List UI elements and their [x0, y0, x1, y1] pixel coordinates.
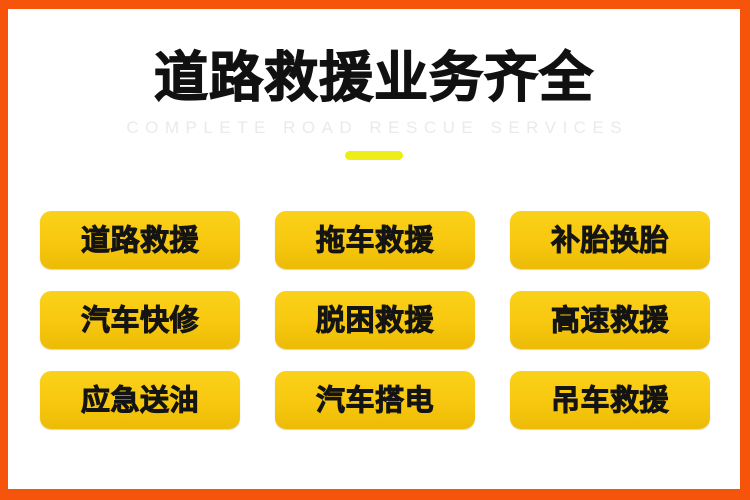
service-chip-label: 汽车搭电 — [316, 386, 434, 415]
service-chip[interactable]: 道路救援 — [40, 211, 240, 269]
accent-bar-wrapper — [8, 151, 740, 160]
service-chip[interactable]: 拖车救援 — [275, 211, 475, 269]
service-chip[interactable]: 汽车快修 — [40, 291, 240, 349]
service-chip[interactable]: 高速救援 — [510, 291, 710, 349]
service-chip-label: 拖车救援 — [316, 226, 434, 255]
service-chip[interactable]: 脱困救援 — [275, 291, 475, 349]
poster-canvas: 道路救援业务齐全 COMPLETE ROAD RESCUE SERVICES 道… — [8, 9, 740, 489]
service-chip-label: 汽车快修 — [81, 306, 199, 335]
service-chip-grid: 道路救援 拖车救援 补胎换胎 汽车快修 脱困救援 高速救援 应急送油 汽车搭电 — [40, 211, 710, 429]
poster-frame: 道路救援业务齐全 COMPLETE ROAD RESCUE SERVICES 道… — [0, 0, 750, 500]
poster-header: 道路救援业务齐全 COMPLETE ROAD RESCUE SERVICES — [8, 9, 740, 160]
service-chip-label: 道路救援 — [81, 226, 199, 255]
page-title: 道路救援业务齐全 — [8, 9, 740, 109]
service-chip[interactable]: 吊车救援 — [510, 371, 710, 429]
service-chip-label: 补胎换胎 — [551, 226, 669, 255]
page-subtitle: COMPLETE ROAD RESCUE SERVICES — [8, 109, 740, 139]
service-chip[interactable]: 应急送油 — [40, 371, 240, 429]
service-chip-label: 吊车救援 — [551, 386, 669, 415]
service-chip[interactable]: 汽车搭电 — [275, 371, 475, 429]
service-chip-label: 应急送油 — [81, 386, 199, 415]
service-chip[interactable]: 补胎换胎 — [510, 211, 710, 269]
service-chip-label: 脱困救援 — [316, 306, 434, 335]
accent-bar — [345, 151, 403, 160]
service-chip-label: 高速救援 — [551, 306, 669, 335]
